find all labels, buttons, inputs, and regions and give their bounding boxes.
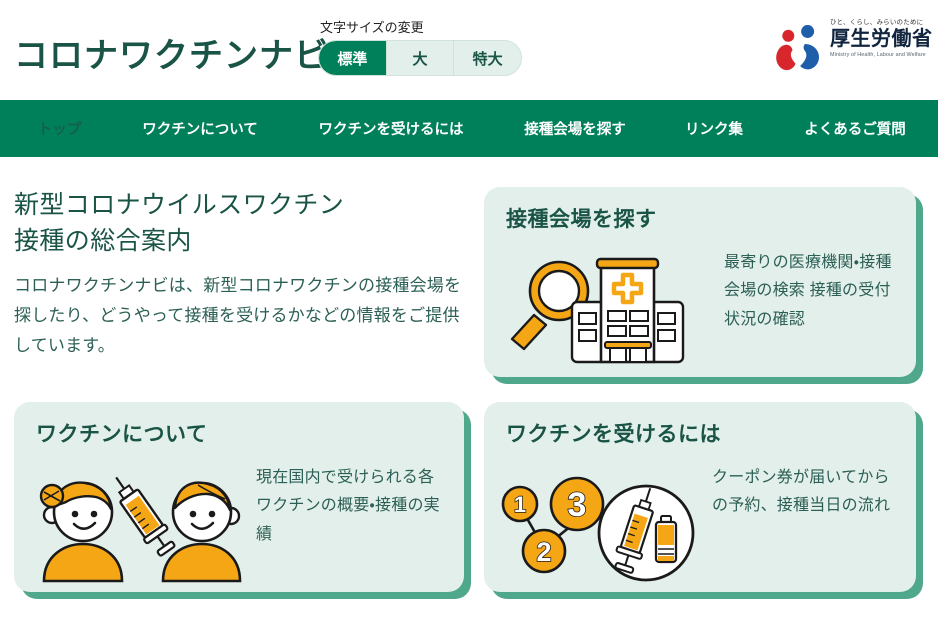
svg-text:3: 3 (568, 486, 587, 524)
card-about-vaccines[interactable]: ワクチンについて (14, 402, 464, 592)
mhlw-logo[interactable]: ひと、くらし、みらいのために 厚生労働省 Ministry of Health,… (772, 20, 930, 78)
card-how-to-get-vaccinated-text: クーポン券が届いてからの予約、接種当日の流れ (712, 464, 902, 521)
page-header: コロナワクチンナビ 文字サイズの変更 標準 大 特大 ひと、くらし、みらいのため… (0, 0, 938, 100)
font-size-control: 文字サイズの変更 標準 大 特大 (318, 17, 524, 76)
font-size-button-group[interactable]: 標準 大 特大 (318, 40, 522, 76)
mhlw-name: 厚生労働省 (830, 29, 930, 50)
mhlw-tagline: ひと、くらし、みらいのために (830, 20, 930, 27)
card-find-vaccination-venue-title: 接種会場を探す (506, 203, 657, 233)
svg-text:2: 2 (536, 537, 551, 567)
nav-item-faq[interactable]: よくあるご質問 (782, 100, 928, 157)
people-syringe-icon (30, 468, 240, 583)
site-title: コロナワクチンナビ (14, 28, 329, 77)
steps-syringe-vial-icon: 1 2 3 (498, 460, 698, 585)
nav-item-howto[interactable]: ワクチンを受けるには (296, 100, 486, 157)
page-title: 新型コロナウイルスワクチン 接種の総合案内 (14, 188, 464, 259)
card-about-vaccines-text: 現在国内で受けられる各ワクチンの概要・接種の実績 (256, 464, 446, 549)
magnifier-hospital-icon (498, 245, 708, 370)
card-how-to-get-vaccinated[interactable]: ワクチンを受けるには 1 2 3 (484, 402, 916, 592)
mhlw-name-english: Ministry of Health, Labour and Welfare (830, 52, 930, 58)
nav-item-top[interactable]: トップ (14, 100, 105, 157)
nav-item-find-venue[interactable]: 接種会場を探す (500, 100, 650, 157)
page-title-line2: 接種の総合案内 (14, 227, 192, 255)
font-size-standard-button[interactable]: 標準 (319, 41, 387, 75)
nav-item-about[interactable]: ワクチンについて (120, 100, 280, 157)
font-size-label: 文字サイズの変更 (318, 17, 524, 36)
intro-block: 新型コロナウイルスワクチン 接種の総合案内 コロナワクチンナビは、新型コロナワク… (14, 188, 464, 360)
svg-text:1: 1 (514, 492, 526, 517)
card-about-vaccines-title: ワクチンについて (36, 418, 207, 448)
nav-item-links[interactable]: リンク集 (664, 100, 764, 157)
card-find-vaccination-venue[interactable]: 接種会場を探す (484, 187, 916, 377)
mhlw-emblem-icon (772, 24, 824, 74)
card-how-to-get-vaccinated-title: ワクチンを受けるには (506, 418, 721, 448)
font-size-large-button[interactable]: 大 (387, 41, 455, 75)
mhlw-wordmark: ひと、くらし、みらいのために 厚生労働省 Ministry of Health,… (830, 20, 930, 58)
page-title-line1: 新型コロナウイルスワクチン (14, 191, 344, 219)
main-navigation: トップ ワクチンについて ワクチンを受けるには 接種会場を探す リンク集 よくあ… (0, 100, 938, 157)
card-find-vaccination-venue-text: 最寄りの医療機関・接種会場の検索 接種の受付状況の確認 (724, 249, 904, 334)
font-size-extra-large-button[interactable]: 特大 (454, 41, 521, 75)
intro-description: コロナワクチンナビは、新型コロナワクチンの接種会場を探したり、どうやって接種を受… (14, 271, 464, 360)
